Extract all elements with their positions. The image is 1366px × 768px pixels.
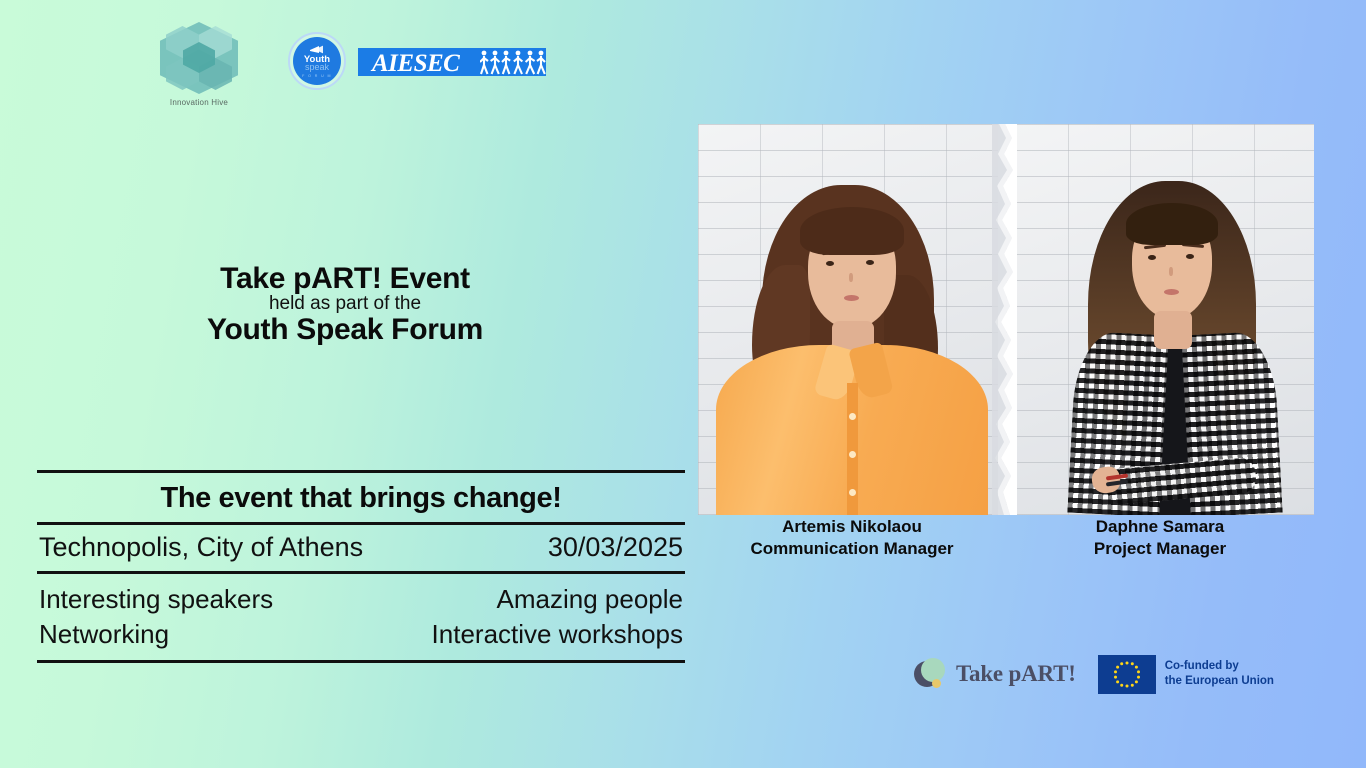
eu-text-line2: the European Union: [1165, 674, 1274, 689]
venue-date-row: Technopolis, City of Athens 30/03/2025: [37, 525, 685, 571]
megaphone-icon: [309, 45, 325, 54]
logo-row: Innovation Hive Youth speak F O R U M AI…: [0, 0, 1366, 120]
eu-flag-icon: [1098, 655, 1156, 694]
innovation-hive-caption: Innovation Hive: [156, 98, 242, 107]
youthspeak-line2: speak: [305, 63, 329, 72]
headline-block: Take pART! Event held as part of the You…: [40, 262, 650, 347]
speaker-captions: Artemis Nikolaou Communication Manager D…: [698, 516, 1314, 560]
speaker-photo-daphne: [1006, 124, 1314, 515]
feature-row: Networking Interactive workshops: [39, 617, 683, 652]
youthspeak-line3: F O R U M: [302, 74, 332, 78]
headline-line3: Youth Speak Forum: [40, 313, 650, 347]
speaker-role: Project Manager: [1006, 538, 1314, 560]
take-part-wordmark: Take pART!: [956, 661, 1076, 687]
innovation-hive-logo: Innovation Hive: [160, 22, 238, 117]
feature-label: Networking: [39, 617, 169, 652]
info-panel: The event that brings change! Technopoli…: [37, 470, 685, 663]
youthspeak-forum-logo: Youth speak F O R U M: [288, 32, 346, 90]
divider-bottom: [37, 660, 685, 663]
youthspeak-disc: Youth speak F O R U M: [293, 37, 341, 85]
speaker-role: Communication Manager: [698, 538, 1006, 560]
artemis-portrait: [716, 145, 988, 515]
features-list: Interesting speakers Amazing people Netw…: [37, 574, 685, 660]
event-tagline: The event that brings change!: [37, 473, 685, 522]
take-part-logo: Take pART!: [914, 657, 1076, 691]
venue-text: Technopolis, City of Athens: [39, 532, 363, 563]
speakers-photo: [698, 124, 1314, 515]
eu-cofunded-text: Co-funded by the European Union: [1165, 659, 1274, 689]
daphne-portrait: [1048, 145, 1298, 515]
event-date: 30/03/2025: [548, 532, 683, 563]
eu-cofunded-logo: Co-funded by the European Union: [1098, 655, 1274, 694]
aiesec-wordmark: AIESEC: [372, 50, 459, 78]
innovation-hive-hex-icon: [160, 22, 238, 94]
caption-daphne: Daphne Samara Project Manager: [1006, 516, 1314, 560]
headline-line1: Take pART! Event: [40, 262, 650, 296]
torn-paper-divider: [986, 124, 1026, 515]
aiesec-walking-people-icon: [480, 49, 546, 76]
speaker-name: Artemis Nikolaou: [698, 516, 1006, 538]
eu-text-line1: Co-funded by: [1165, 659, 1274, 674]
feature-row: Interesting speakers Amazing people: [39, 582, 683, 617]
headline-line2: held as part of the: [40, 293, 650, 315]
feature-label: Interactive workshops: [432, 617, 683, 652]
feature-label: Interesting speakers: [39, 582, 273, 617]
footer-logo-row: Take pART! Co-funded by: [914, 652, 1274, 696]
speaker-photo-artemis: [698, 124, 1006, 515]
feature-label: Amazing people: [497, 582, 683, 617]
speaker-name: Daphne Samara: [1006, 516, 1314, 538]
aiesec-logo: AIESEC: [358, 48, 546, 78]
take-part-mark-icon: [914, 657, 948, 691]
caption-artemis: Artemis Nikolaou Communication Manager: [698, 516, 1006, 560]
